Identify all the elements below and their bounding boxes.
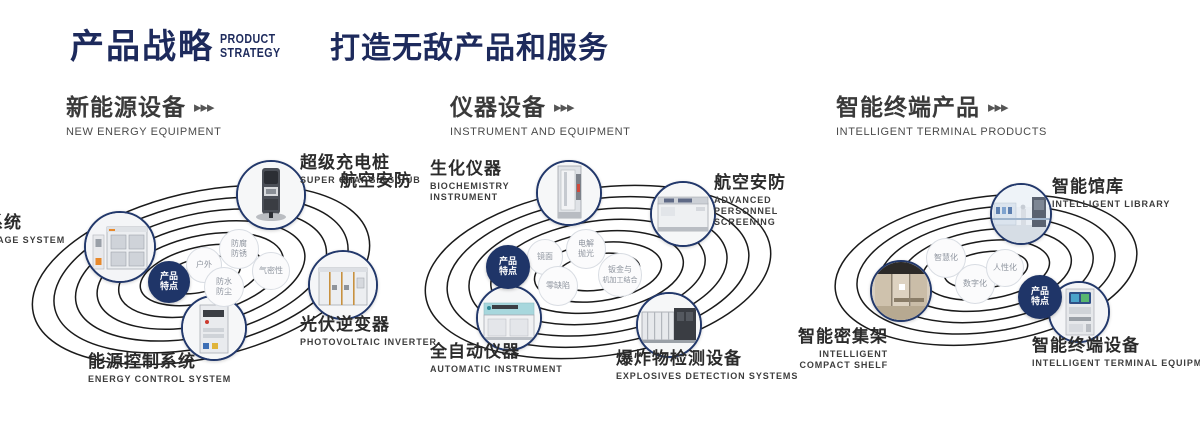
control-cabinet-photo	[183, 297, 245, 359]
label-intelligent-library: 智能馆库 INTELLIGENT LIBRARY	[1052, 178, 1170, 210]
compact-shelving-photo	[872, 262, 930, 320]
page-header: 产品战略 PRODUCT STRATEGY 打造无敌产品和服务	[0, 0, 1200, 90]
label-cn: 航空安防	[312, 172, 412, 191]
core-bubble-product-features: 产品 特点	[148, 261, 190, 303]
smart-library-room-photo	[992, 185, 1050, 243]
label-en: ENERGY CONTROL SYSTEM	[88, 374, 231, 385]
core-line2: 特点	[160, 282, 178, 292]
panel-intelligent-terminal: 智能馆库 INTELLIGENT LIBRARY 智能密集架 INTELLIGE…	[800, 150, 1200, 400]
core-line1: 产品	[499, 257, 517, 267]
core-bubble-product-features: 产品 特点	[1018, 275, 1062, 319]
section-title-instrument: 仪器设备▸▸▸ INSTRUMENT AND EQUIPMENT	[450, 94, 630, 138]
chevrons-icon: ▸▸▸	[194, 94, 214, 120]
section-title-en: INSTRUMENT AND EQUIPMENT	[450, 126, 630, 138]
label-cn: 航空安防	[714, 174, 800, 193]
pv-inverter-cabinet-photo	[310, 252, 376, 318]
feature-bubble: 气密性	[252, 252, 290, 290]
feature-line1: 防腐	[231, 239, 247, 249]
label-automatic-instrument: 全自动仪器 AUTOMATIC INSTRUMENT	[430, 343, 563, 375]
page-title-en-line1: PRODUCT	[220, 32, 281, 46]
label-cn: 智能馆库	[1052, 178, 1170, 197]
label-en: ENERGY STORAGE SYSTEM	[0, 235, 22, 246]
feature-line2: 防尘	[216, 287, 232, 297]
infographic-canvas: 产品战略 PRODUCT STRATEGY 打造无敌产品和服务 新能源设备▸▸▸…	[0, 0, 1200, 422]
feature-bubble: 人性化	[986, 249, 1024, 287]
feature-line1: 零缺陷	[546, 281, 570, 291]
label-advanced-personnel-screening: 航空安防 ADVANCED PERSONNEL SCREENING	[714, 174, 800, 228]
label-en: INTELLIGENT TERMINAL EQUIPMENT	[1032, 358, 1200, 369]
feature-line1: 人性化	[993, 263, 1017, 273]
section-title-en: NEW ENERGY EQUIPMENT	[66, 126, 221, 138]
feature-bubble: 钣金与 机加工结合	[598, 253, 642, 297]
energy-storage-cabinet-photo	[86, 213, 154, 281]
feature-line1: 数字化	[963, 279, 987, 289]
feature-line1: 钣金与	[603, 265, 638, 275]
feature-line1: 镜面	[537, 252, 553, 262]
section-title-cn: 仪器设备▸▸▸	[450, 94, 630, 121]
node-advanced-personnel-screening[interactable]	[650, 181, 716, 247]
label-en: BIOCHEMISTRY INSTRUMENT	[430, 181, 512, 203]
feature-line1: 防水	[216, 277, 232, 287]
node-energy-storage[interactable]	[84, 211, 156, 283]
section-title-cn: 新能源设备▸▸▸	[66, 94, 221, 121]
feature-bubble: 零缺陷	[538, 266, 578, 306]
chevrons-icon: ▸▸▸	[554, 94, 574, 120]
label-en: INTELLIGENT COMPACT SHELF	[788, 349, 888, 371]
core-line2: 特点	[1031, 297, 1049, 307]
feature-line2: 防锈	[231, 249, 247, 259]
label-energy-storage: 储能系统 ENERGY STORAGE SYSTEM	[0, 214, 22, 246]
charging-pile-photo	[238, 162, 304, 228]
panel-instrument: 航空安防 生化仪器 BIOCHEMISTRY INSTRUMENT	[400, 150, 800, 400]
label-cn: 全自动仪器	[430, 343, 563, 362]
page-title-cn: 产品战略	[70, 28, 214, 66]
label-cn: 智能终端设备	[1032, 337, 1200, 356]
node-compact-shelf[interactable]	[870, 260, 932, 322]
section-title-en: INTELLIGENT TERMINAL PRODUCTS	[836, 126, 1047, 138]
screening-machine-photo	[652, 183, 714, 245]
page-title-en-line2: STRATEGY	[220, 46, 281, 60]
chevrons-icon: ▸▸▸	[988, 94, 1008, 120]
label-cn: 智能密集架	[758, 328, 888, 347]
node-biochemistry-instrument[interactable]	[536, 160, 602, 226]
core-line2: 特点	[499, 267, 517, 277]
feature-line2: 机加工结合	[603, 275, 638, 285]
label-energy-control: 能源控制系统 ENERGY CONTROL SYSTEM	[88, 353, 231, 385]
feature-bubble: 防水 防尘	[204, 267, 244, 307]
section-title-cn: 智能终端产品▸▸▸	[836, 94, 1047, 121]
feature-line1: 智慧化	[934, 253, 958, 263]
label-compact-shelf: 智能密集架 INTELLIGENT COMPACT SHELF	[758, 328, 888, 371]
feature-line1: 气密性	[259, 266, 283, 276]
label-terminal-equipment: 智能终端设备 INTELLIGENT TERMINAL EQUIPMENT	[1032, 337, 1200, 369]
label-en: INTELLIGENT LIBRARY	[1052, 199, 1170, 210]
page-title-en: PRODUCT STRATEGY	[220, 32, 281, 60]
label-cn: 储能系统	[0, 214, 22, 233]
label-cn: 生化仪器	[430, 160, 512, 179]
feature-line1: 户外	[196, 260, 212, 270]
section-title-new-energy: 新能源设备▸▸▸ NEW ENERGY EQUIPMENT	[66, 94, 221, 138]
node-pv-inverter[interactable]	[308, 250, 378, 320]
section-title-intelligent-terminal: 智能终端产品▸▸▸ INTELLIGENT TERMINAL PRODUCTS	[836, 94, 1047, 138]
label-aviation-security-left: 航空安防	[312, 172, 412, 191]
label-en: EXPLOSIVES DETECTION SYSTEMS	[616, 371, 798, 382]
label-biochemistry-instrument: 生化仪器 BIOCHEMISTRY INSTRUMENT	[430, 160, 512, 203]
core-line1: 产品	[160, 272, 178, 282]
core-line1: 产品	[1031, 287, 1049, 297]
label-en: AUTOMATIC INSTRUMENT	[430, 364, 563, 375]
label-cn: 能源控制系统	[88, 353, 231, 372]
automatic-analyzer-photo	[478, 287, 540, 349]
label-en: ADVANCED PERSONNEL SCREENING	[714, 195, 800, 228]
node-charging-hub[interactable]	[236, 160, 306, 230]
core-bubble-product-features: 产品 特点	[486, 245, 530, 289]
node-intelligent-library[interactable]	[990, 183, 1052, 245]
feature-line2: 抛光	[578, 249, 594, 259]
explosives-detector-photo	[638, 294, 700, 356]
page-subtitle: 打造无敌产品和服务	[330, 30, 609, 68]
feature-line1: 电解	[578, 239, 594, 249]
biochemistry-scanner-photo	[538, 162, 600, 224]
